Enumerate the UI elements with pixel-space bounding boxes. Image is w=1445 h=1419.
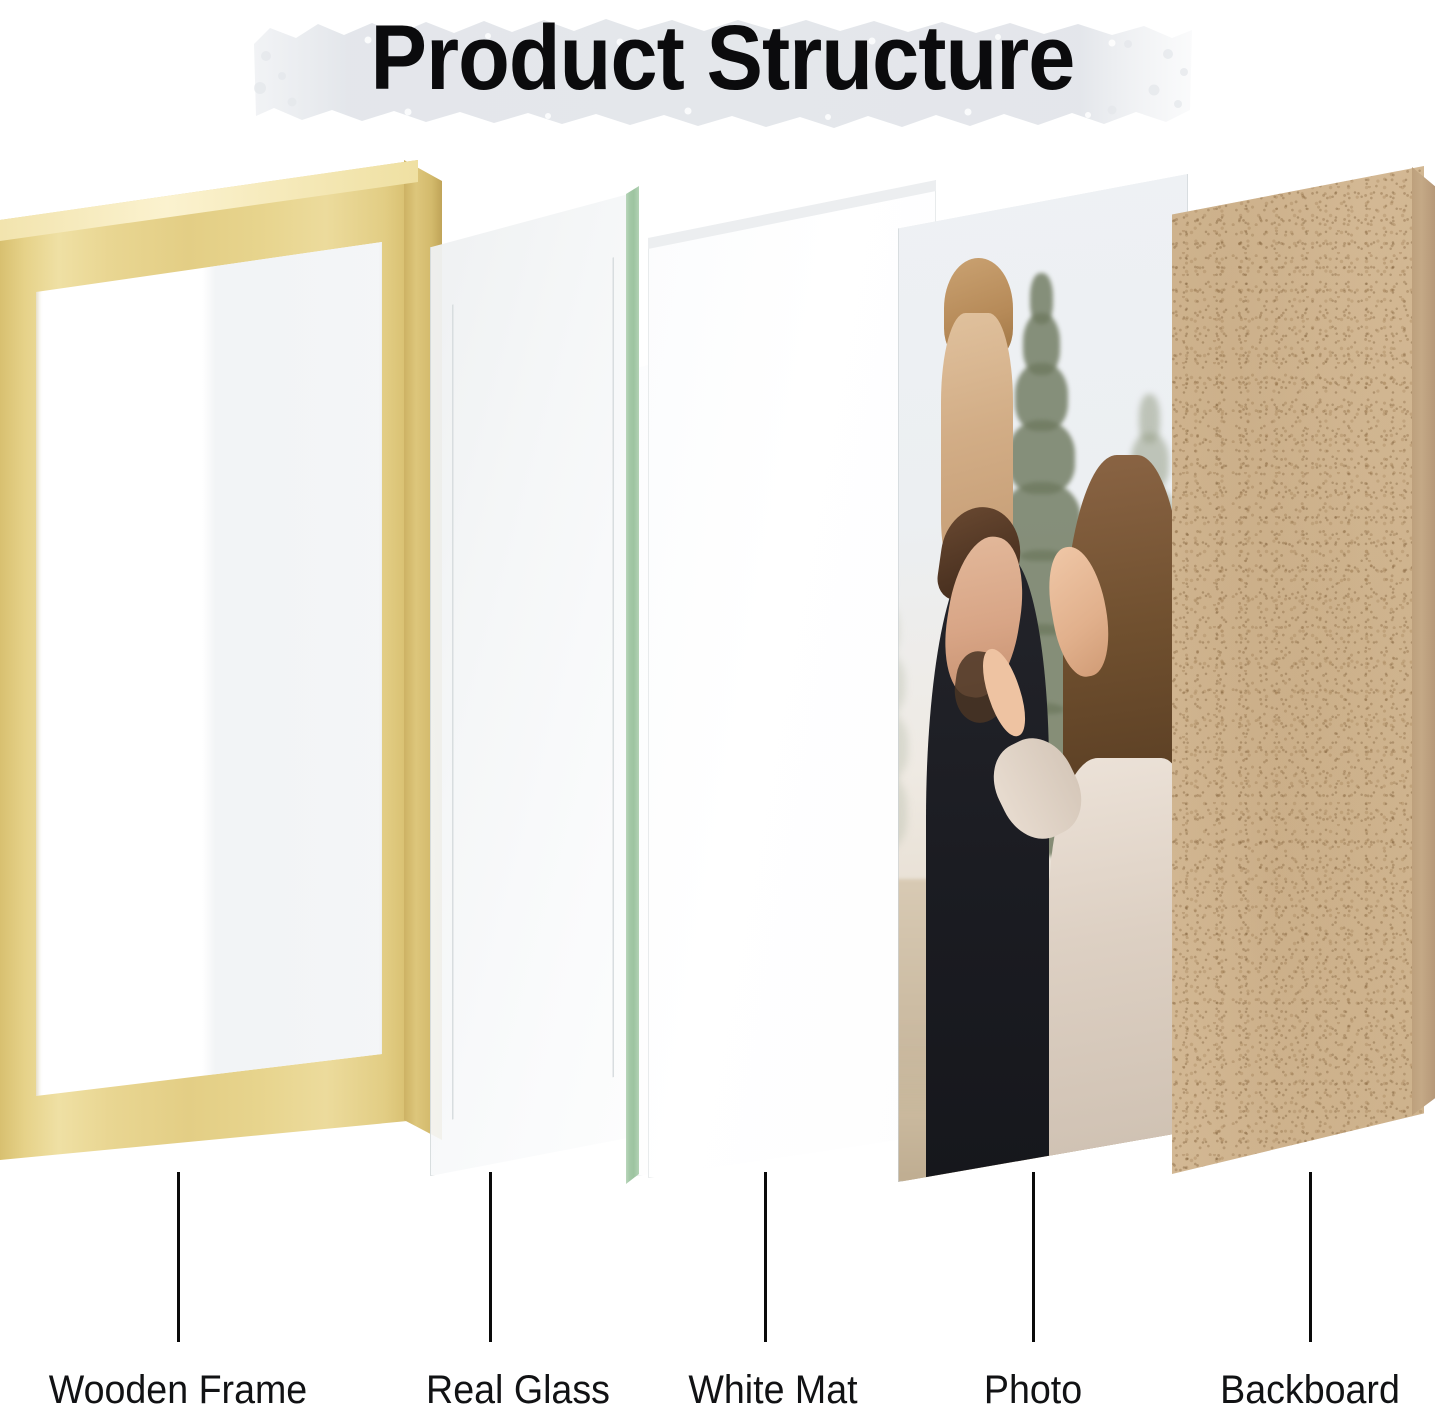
label-real-glass: Real Glass — [396, 1368, 640, 1413]
label-wooden-frame: Wooden Frame — [11, 1368, 346, 1413]
product-structure-diagram: Product Structure — [0, 0, 1445, 1419]
label-backboard: Backboard — [1197, 1368, 1423, 1413]
leader-line-backboard — [1309, 1172, 1312, 1342]
leader-line-real-glass — [489, 1172, 492, 1342]
leader-line-photo — [1032, 1172, 1035, 1342]
label-white-mat: White Mat — [660, 1368, 886, 1413]
leader-line-wooden-frame — [177, 1172, 180, 1342]
leader-line-white-mat — [764, 1172, 767, 1342]
leader-lines — [0, 0, 1445, 1419]
layer-labels: Wooden Frame Real Glass White Mat Photo … — [0, 1368, 1445, 1419]
label-photo: Photo — [939, 1368, 1127, 1413]
